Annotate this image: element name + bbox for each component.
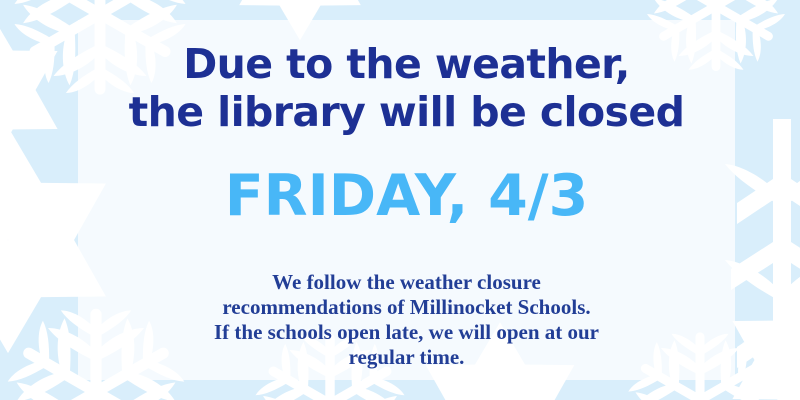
headline-line-1: Due to the weather,: [129, 40, 685, 88]
headline-line-2: the library will be closed: [129, 88, 685, 136]
closure-date: FRIDAY, 4/3: [225, 165, 589, 227]
weather-closure-poster: Due to the weather, the library will be …: [0, 0, 800, 400]
policy-line-4: regular time.: [214, 345, 599, 370]
policy-line-1: We follow the weather closure: [214, 270, 599, 295]
closure-policy-block: We follow the weather closure recommenda…: [214, 270, 599, 370]
policy-line-3: If the schools open late, we will open a…: [214, 320, 599, 345]
headline-block: Due to the weather, the library will be …: [129, 40, 685, 136]
closure-date-block: FRIDAY, 4/3: [225, 165, 589, 227]
policy-line-2: recommendations of Millinocket Schools.: [214, 295, 599, 320]
poster-content: Due to the weather, the library will be …: [78, 20, 735, 380]
